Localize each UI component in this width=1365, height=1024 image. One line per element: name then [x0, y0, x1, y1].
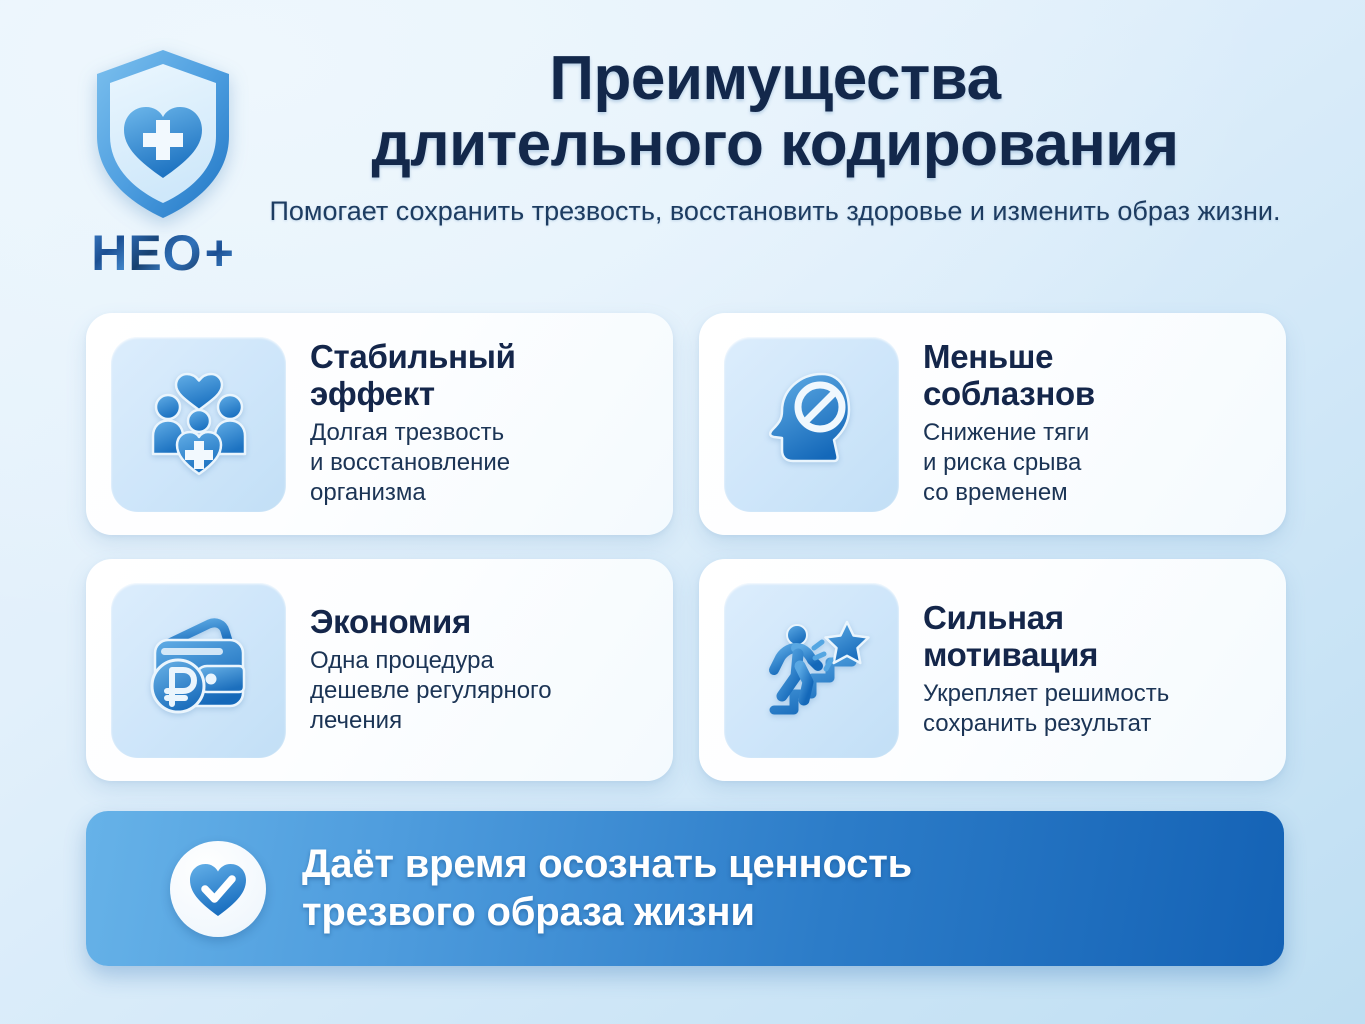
icon-tile	[111, 337, 286, 512]
stairs-star-person-icon	[752, 610, 872, 730]
brand-logo: HEO+	[78, 44, 248, 278]
infographic-page: HEO+ Преимущества длительного кодировани…	[0, 0, 1365, 1024]
card-description: Снижение тяги и риска срыва со временем	[923, 418, 1262, 509]
icon-tile	[724, 583, 899, 758]
head-no-sign-icon	[752, 364, 872, 484]
logo-letter-e: E	[128, 228, 162, 278]
logo-letter-o: O	[163, 228, 203, 278]
page-title-line-1: Преимущества	[260, 46, 1290, 112]
wallet-ruble-icon	[139, 610, 259, 730]
icon-tile	[111, 583, 286, 758]
summary-banner: Даёт время осознать ценность трезвого об…	[86, 811, 1284, 966]
header: HEO+ Преимущества длительного кодировани…	[0, 0, 1365, 310]
card-text: Стабильный эффект Долгая трезвость и вос…	[310, 339, 649, 508]
logo-plus: +	[205, 228, 235, 278]
card-title: Стабильный эффект	[310, 339, 649, 412]
card-description: Укрепляет решимость сохранить результат	[923, 679, 1262, 739]
title-block: Преимущества длительного кодирования Пом…	[260, 46, 1290, 230]
page-title-line-2: длительного кодирования	[260, 112, 1290, 178]
benefit-card: Сильная мотивация Укрепляет решимость со…	[699, 559, 1286, 781]
card-text: Экономия Одна процедура дешевле регулярн…	[310, 604, 649, 737]
benefit-card: Экономия Одна процедура дешевле регулярн…	[86, 559, 673, 781]
benefit-card: Меньше соблазнов Снижение тяги и риска с…	[699, 313, 1286, 535]
family-heart-plus-icon	[139, 364, 259, 484]
card-text: Сильная мотивация Укрепляет решимость со…	[923, 600, 1262, 739]
icon-tile	[724, 337, 899, 512]
card-description: Одна процедура дешевле регулярного лечен…	[310, 646, 649, 737]
logo-letter-h: H	[91, 228, 128, 278]
benefits-grid: Стабильный эффект Долгая трезвость и вос…	[86, 313, 1284, 781]
card-title: Меньше соблазнов	[923, 339, 1262, 412]
shield-heart-plus-icon	[88, 44, 238, 224]
card-text: Меньше соблазнов Снижение тяги и риска с…	[923, 339, 1262, 508]
card-title: Сильная мотивация	[923, 600, 1262, 673]
heart-check-icon	[170, 841, 266, 937]
card-title: Экономия	[310, 604, 649, 640]
banner-text: Даёт время осознать ценность трезвого об…	[302, 841, 912, 935]
card-description: Долгая трезвость и восстановление органи…	[310, 418, 649, 509]
benefit-card: Стабильный эффект Долгая трезвость и вос…	[86, 313, 673, 535]
page-subtitle: Помогает сохранить трезвость, восстанови…	[260, 193, 1290, 229]
brand-wordmark: HEO+	[78, 228, 248, 278]
